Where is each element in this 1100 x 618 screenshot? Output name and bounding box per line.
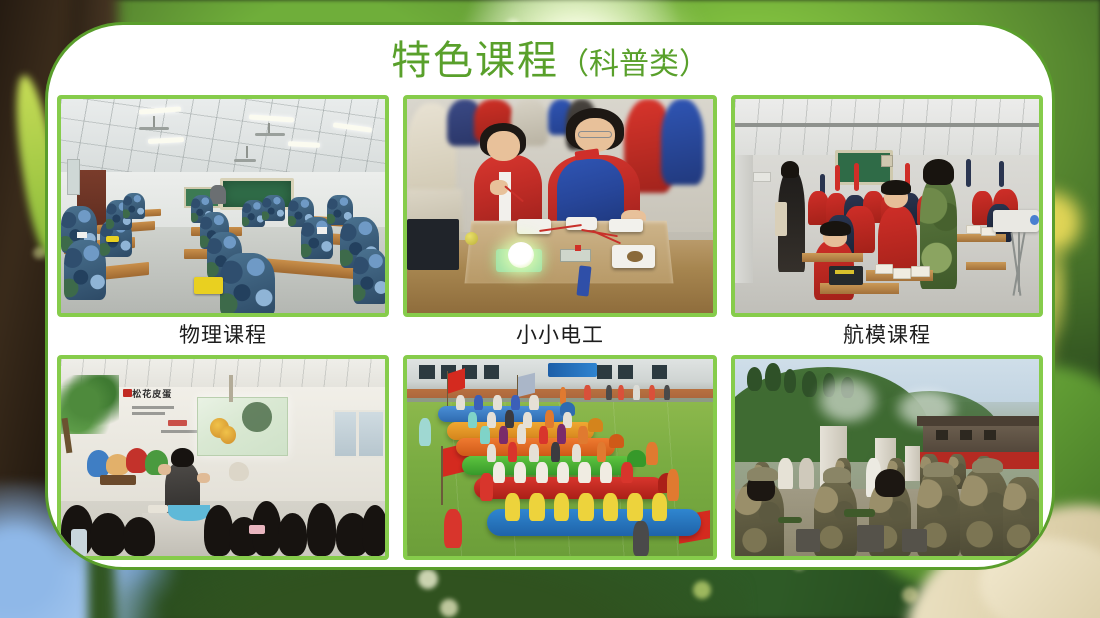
mural-title: 松花皮蛋 — [132, 387, 172, 400]
physics-classroom-photo[interactable] — [57, 95, 389, 317]
gallery-caption: 旱地龙舟 — [516, 560, 604, 570]
preserved-egg-making-scene: 松花皮蛋 — [61, 359, 385, 556]
physics-classroom-scene — [61, 99, 385, 313]
gallery-caption: 航模课程 — [843, 317, 931, 351]
gallery-item-physics[interactable]: 物理课程 — [57, 95, 389, 351]
field-cooking-photo[interactable] — [731, 355, 1043, 560]
gallery-item-model-aircraft[interactable]: 航模课程 — [731, 95, 1043, 351]
model-aircraft-classroom-photo[interactable] — [731, 95, 1043, 317]
page-title-sub: （科普类） — [559, 48, 709, 81]
gallery-caption: 埋锅造饭 — [843, 560, 931, 570]
little-electrician-scene — [407, 99, 713, 313]
gallery-caption: 小小电工 — [516, 317, 604, 351]
field-cooking-scene — [735, 359, 1039, 556]
gallery-item-field-cooking[interactable]: 埋锅造饭 — [731, 355, 1043, 570]
gallery-item-preserved-egg[interactable]: 松花皮蛋 — [57, 355, 389, 570]
gallery-caption: 物理课程 — [179, 317, 267, 351]
gallery-caption: 制作松花皮蛋 — [157, 560, 289, 570]
dryland-dragon-boat-photo[interactable] — [403, 355, 717, 560]
dryland-dragon-boat-scene — [407, 359, 713, 556]
page-title: 特色课程（科普类） — [48, 41, 1052, 81]
photo-gallery-grid: 物理课程 — [68, 95, 1032, 570]
model-aircraft-classroom-scene — [735, 99, 1039, 313]
gallery-item-dragon-boat[interactable]: 旱地龙舟 — [403, 355, 717, 570]
gallery-item-electrician[interactable]: 小小电工 — [403, 95, 717, 351]
content-card: 特色课程（科普类） — [45, 22, 1055, 570]
preserved-egg-making-photo[interactable]: 松花皮蛋 — [57, 355, 389, 560]
page-title-main: 特色课程 — [391, 38, 559, 83]
little-electrician-photo[interactable] — [403, 95, 717, 317]
